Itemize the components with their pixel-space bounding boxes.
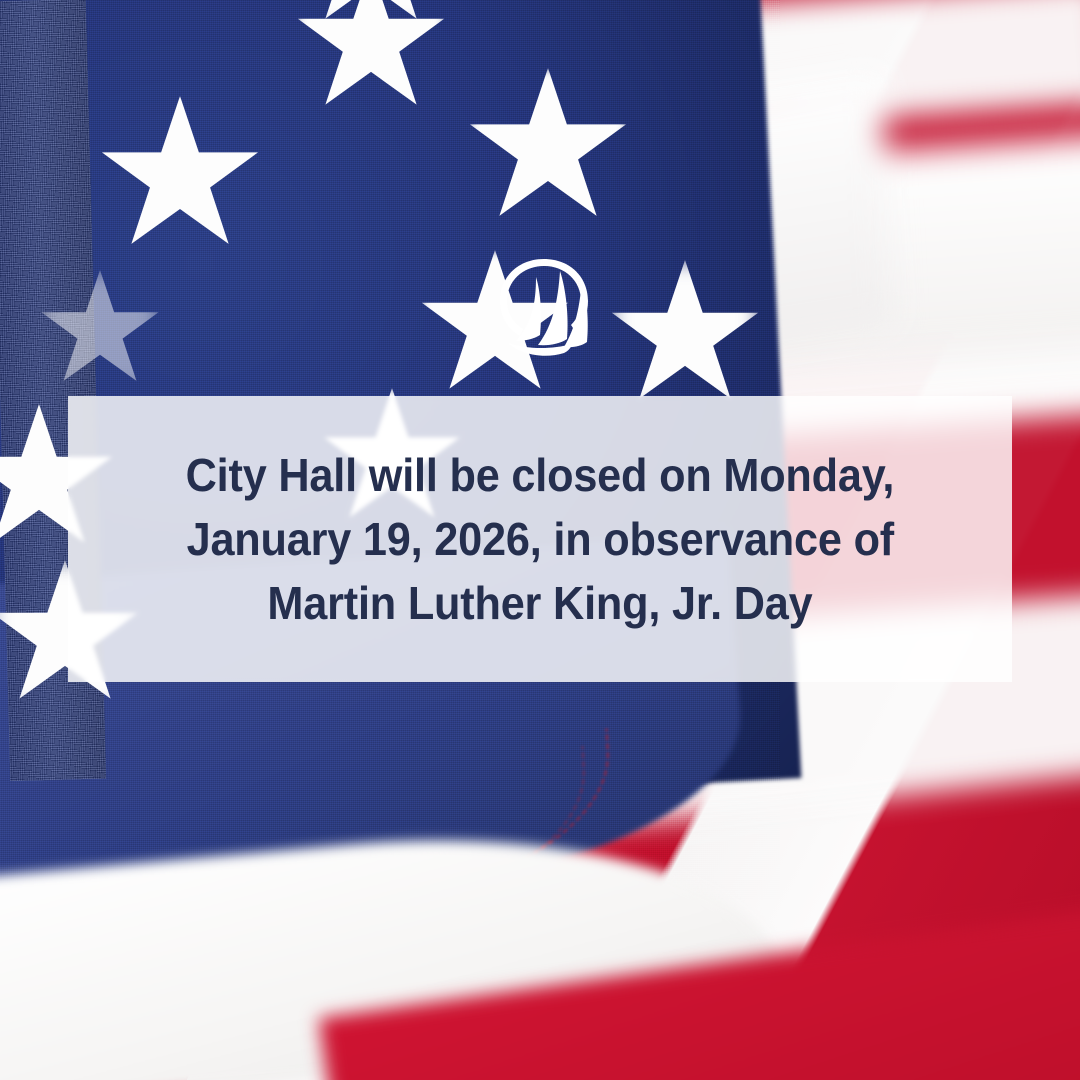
announcement-graphic: City Hall will be closed on Monday, Janu… xyxy=(0,0,1080,1080)
logo-sail-main xyxy=(538,271,568,345)
announcement-text-panel: City Hall will be closed on Monday, Janu… xyxy=(68,396,1012,682)
announcement-line-1: City Hall will be closed on Monday, xyxy=(186,443,895,507)
announcement-line-2: January 19, 2026, in observance of xyxy=(186,507,893,571)
sailboat-logo xyxy=(492,255,596,361)
announcement-line-3: Martin Luther King, Jr. Day xyxy=(267,571,812,635)
logo-sail-fore xyxy=(564,279,588,347)
